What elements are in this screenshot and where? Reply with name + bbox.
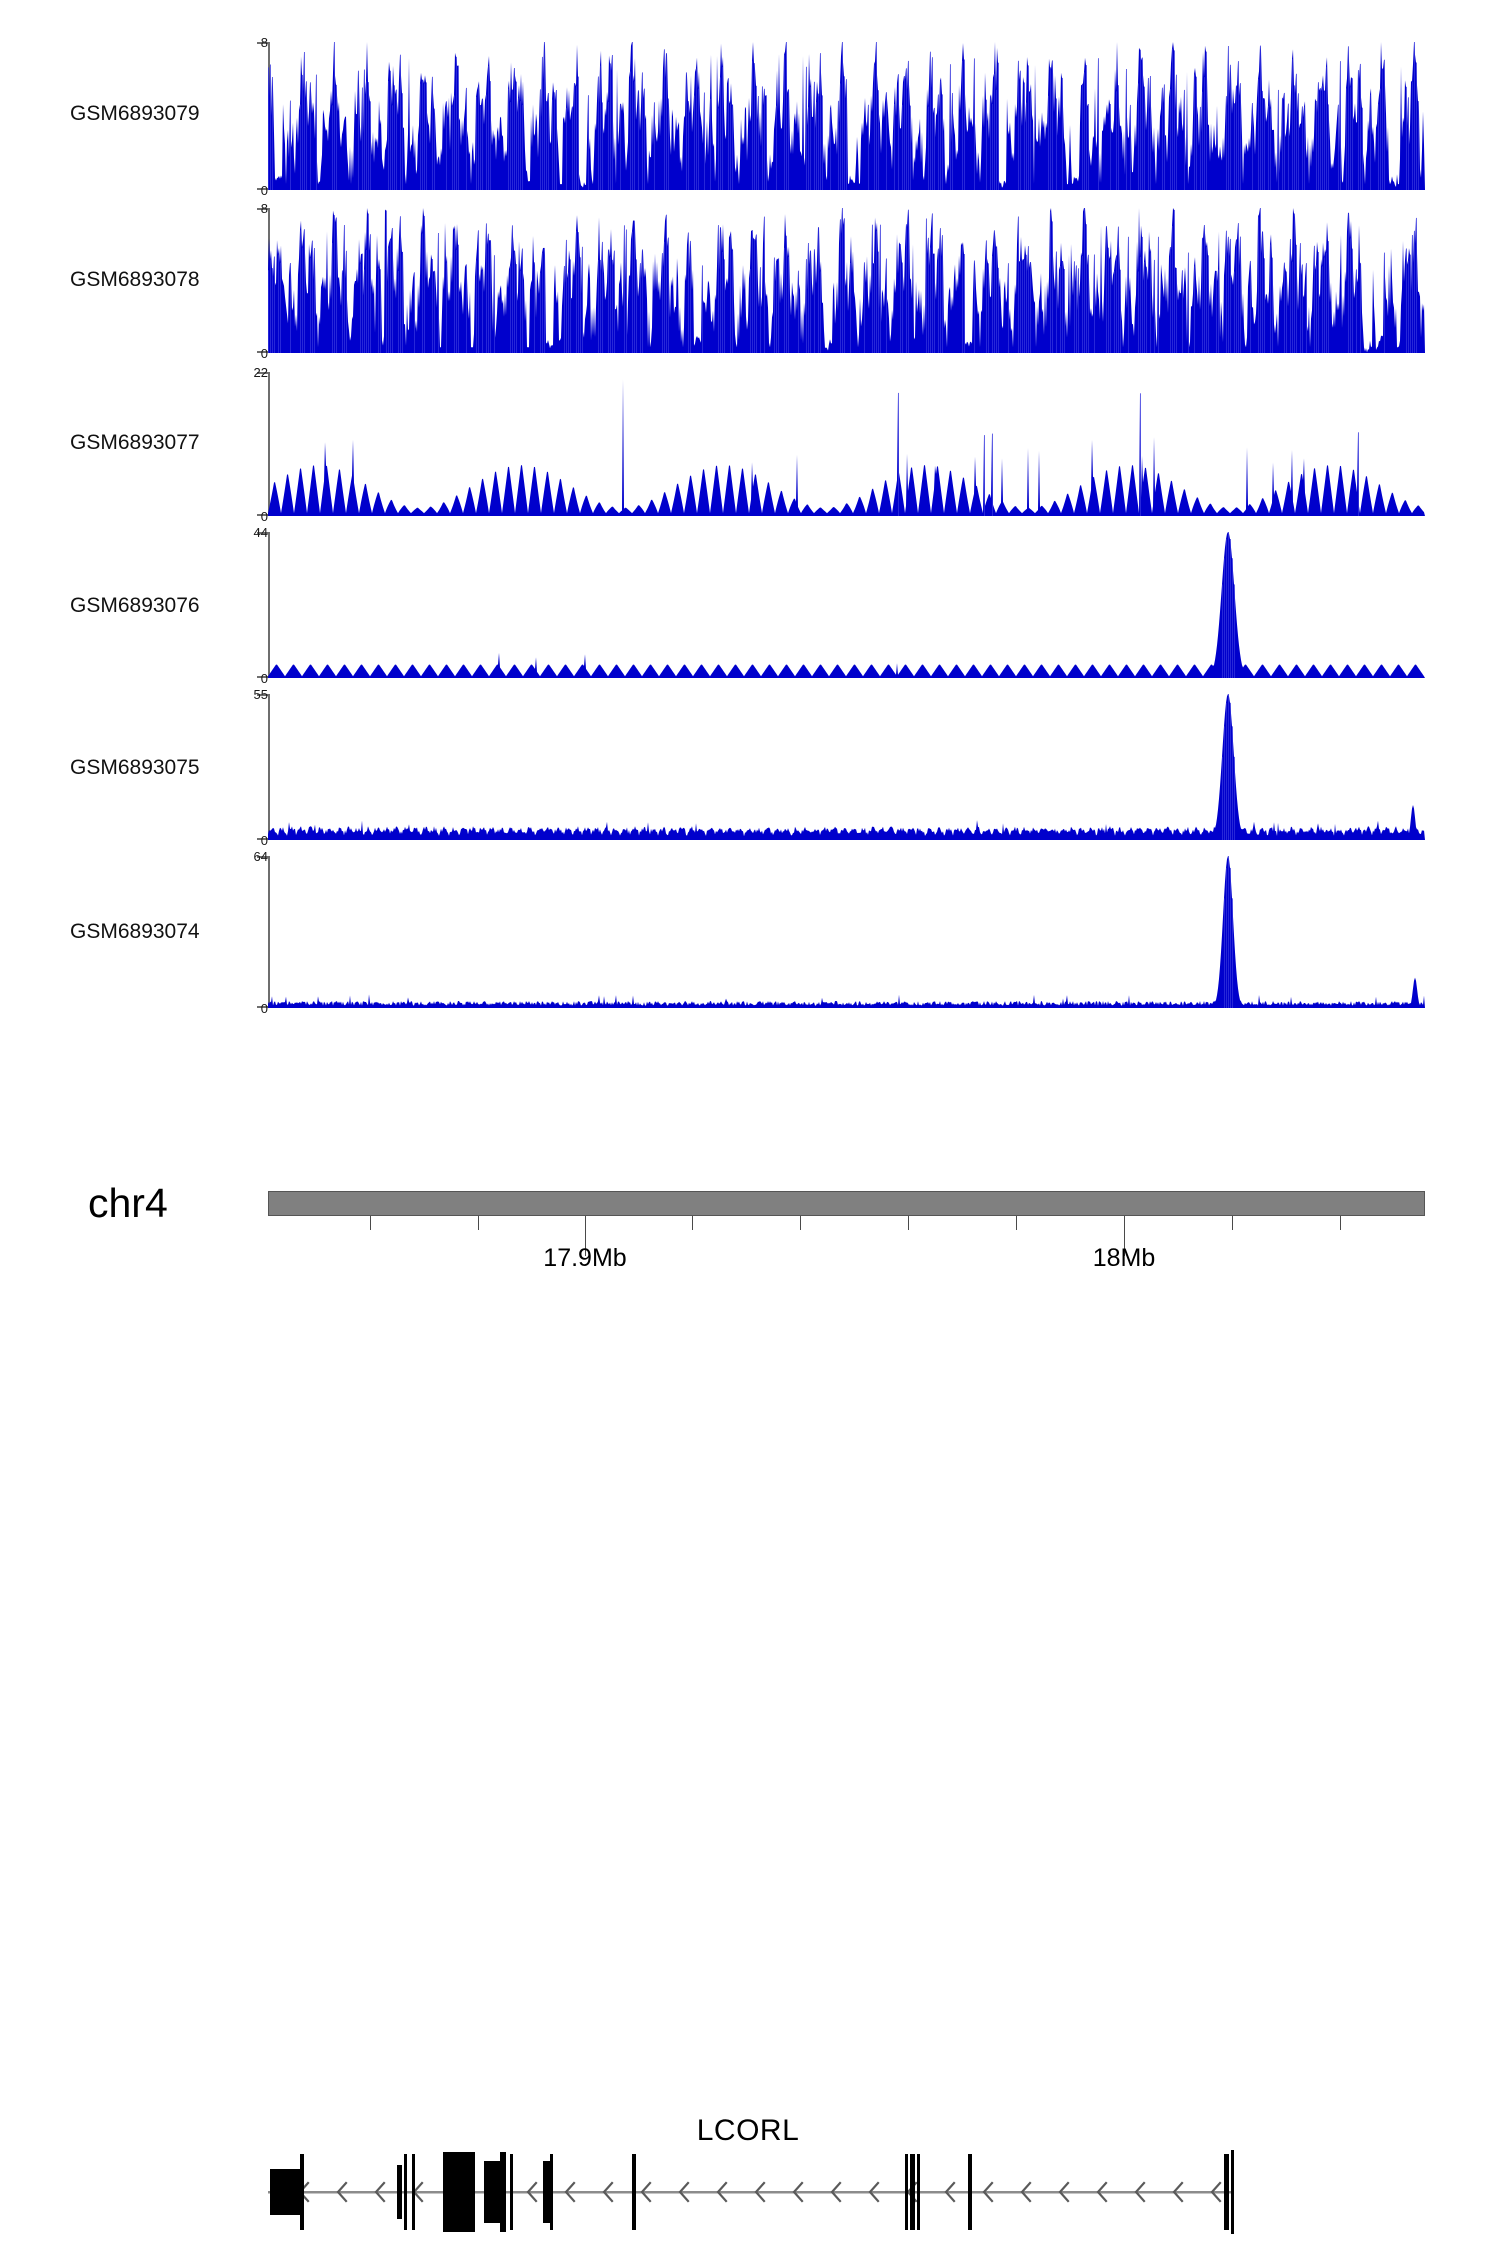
- ruler-tick-minor: [1340, 1216, 1341, 1230]
- coordinate-ruler: 17.9Mb18Mb: [0, 1216, 1500, 1296]
- y-axis-min-gsm6893074: 0: [261, 1002, 268, 1015]
- ruler-tick-minor: [800, 1216, 801, 1230]
- ruler-label-0: 17.9Mb: [543, 1244, 626, 1273]
- ruler-tick-minor: [478, 1216, 479, 1230]
- ruler-tick-minor: [908, 1216, 909, 1230]
- gene-annotation-panel: LCORL: [0, 1052, 1500, 1192]
- track-label-gsm6893075: GSM6893075: [70, 756, 235, 780]
- signal-plot-gsm6893079[interactable]: [268, 42, 1425, 190]
- ruler-tick-minor: [692, 1216, 693, 1230]
- y-axis-max-gsm6893074: 64: [254, 850, 268, 863]
- y-axis-min-gsm6893076: 0: [261, 672, 268, 685]
- signal-plot-gsm6893075[interactable]: [268, 694, 1425, 840]
- track-label-gsm6893078: GSM6893078: [70, 268, 235, 292]
- signal-plot-gsm6893076[interactable]: [268, 532, 1425, 678]
- y-axis-gsm6893079: 80: [239, 42, 268, 190]
- ruler-label-1: 18Mb: [1093, 1244, 1156, 1273]
- y-axis-max-gsm6893077: 22: [254, 366, 268, 379]
- track-label-gsm6893074: GSM6893074: [70, 920, 235, 944]
- y-axis-gsm6893074: 640: [239, 856, 268, 1008]
- track-label-gsm6893076: GSM6893076: [70, 594, 235, 618]
- genome-browser: GSM689307980GSM689307880GSM6893077220GSM…: [0, 0, 1500, 1320]
- y-axis-gsm6893077: 220: [239, 372, 268, 516]
- y-axis-gsm6893076: 440: [239, 532, 268, 678]
- ruler-tick-minor: [1016, 1216, 1017, 1230]
- y-axis-gsm6893075: 550: [239, 694, 268, 840]
- y-axis-max-gsm6893079: 8: [261, 36, 268, 49]
- gene-model[interactable]: [0, 2147, 1500, 2247]
- gene-name-label: LCORL: [0, 2114, 1500, 2148]
- track-label-gsm6893077: GSM6893077: [70, 431, 235, 455]
- y-axis-min-gsm6893079: 0: [261, 184, 268, 197]
- ruler-tick-minor: [370, 1216, 371, 1230]
- signal-plot-gsm6893077[interactable]: [268, 372, 1425, 516]
- gene-name-text: LCORL: [697, 2114, 800, 2147]
- y-axis-gsm6893078: 80: [239, 208, 268, 353]
- y-axis-min-gsm6893077: 0: [261, 510, 268, 523]
- ideogram-bar[interactable]: [268, 1191, 1425, 1216]
- y-axis-max-gsm6893078: 8: [261, 202, 268, 215]
- y-axis-max-gsm6893076: 44: [254, 526, 268, 539]
- y-axis-min-gsm6893078: 0: [261, 347, 268, 360]
- y-axis-max-gsm6893075: 55: [254, 688, 268, 701]
- y-axis-min-gsm6893075: 0: [261, 834, 268, 847]
- ruler-tick-minor: [1232, 1216, 1233, 1230]
- signal-plot-gsm6893078[interactable]: [268, 208, 1425, 353]
- signal-plot-gsm6893074[interactable]: [268, 856, 1425, 1008]
- track-label-gsm6893079: GSM6893079: [70, 102, 235, 126]
